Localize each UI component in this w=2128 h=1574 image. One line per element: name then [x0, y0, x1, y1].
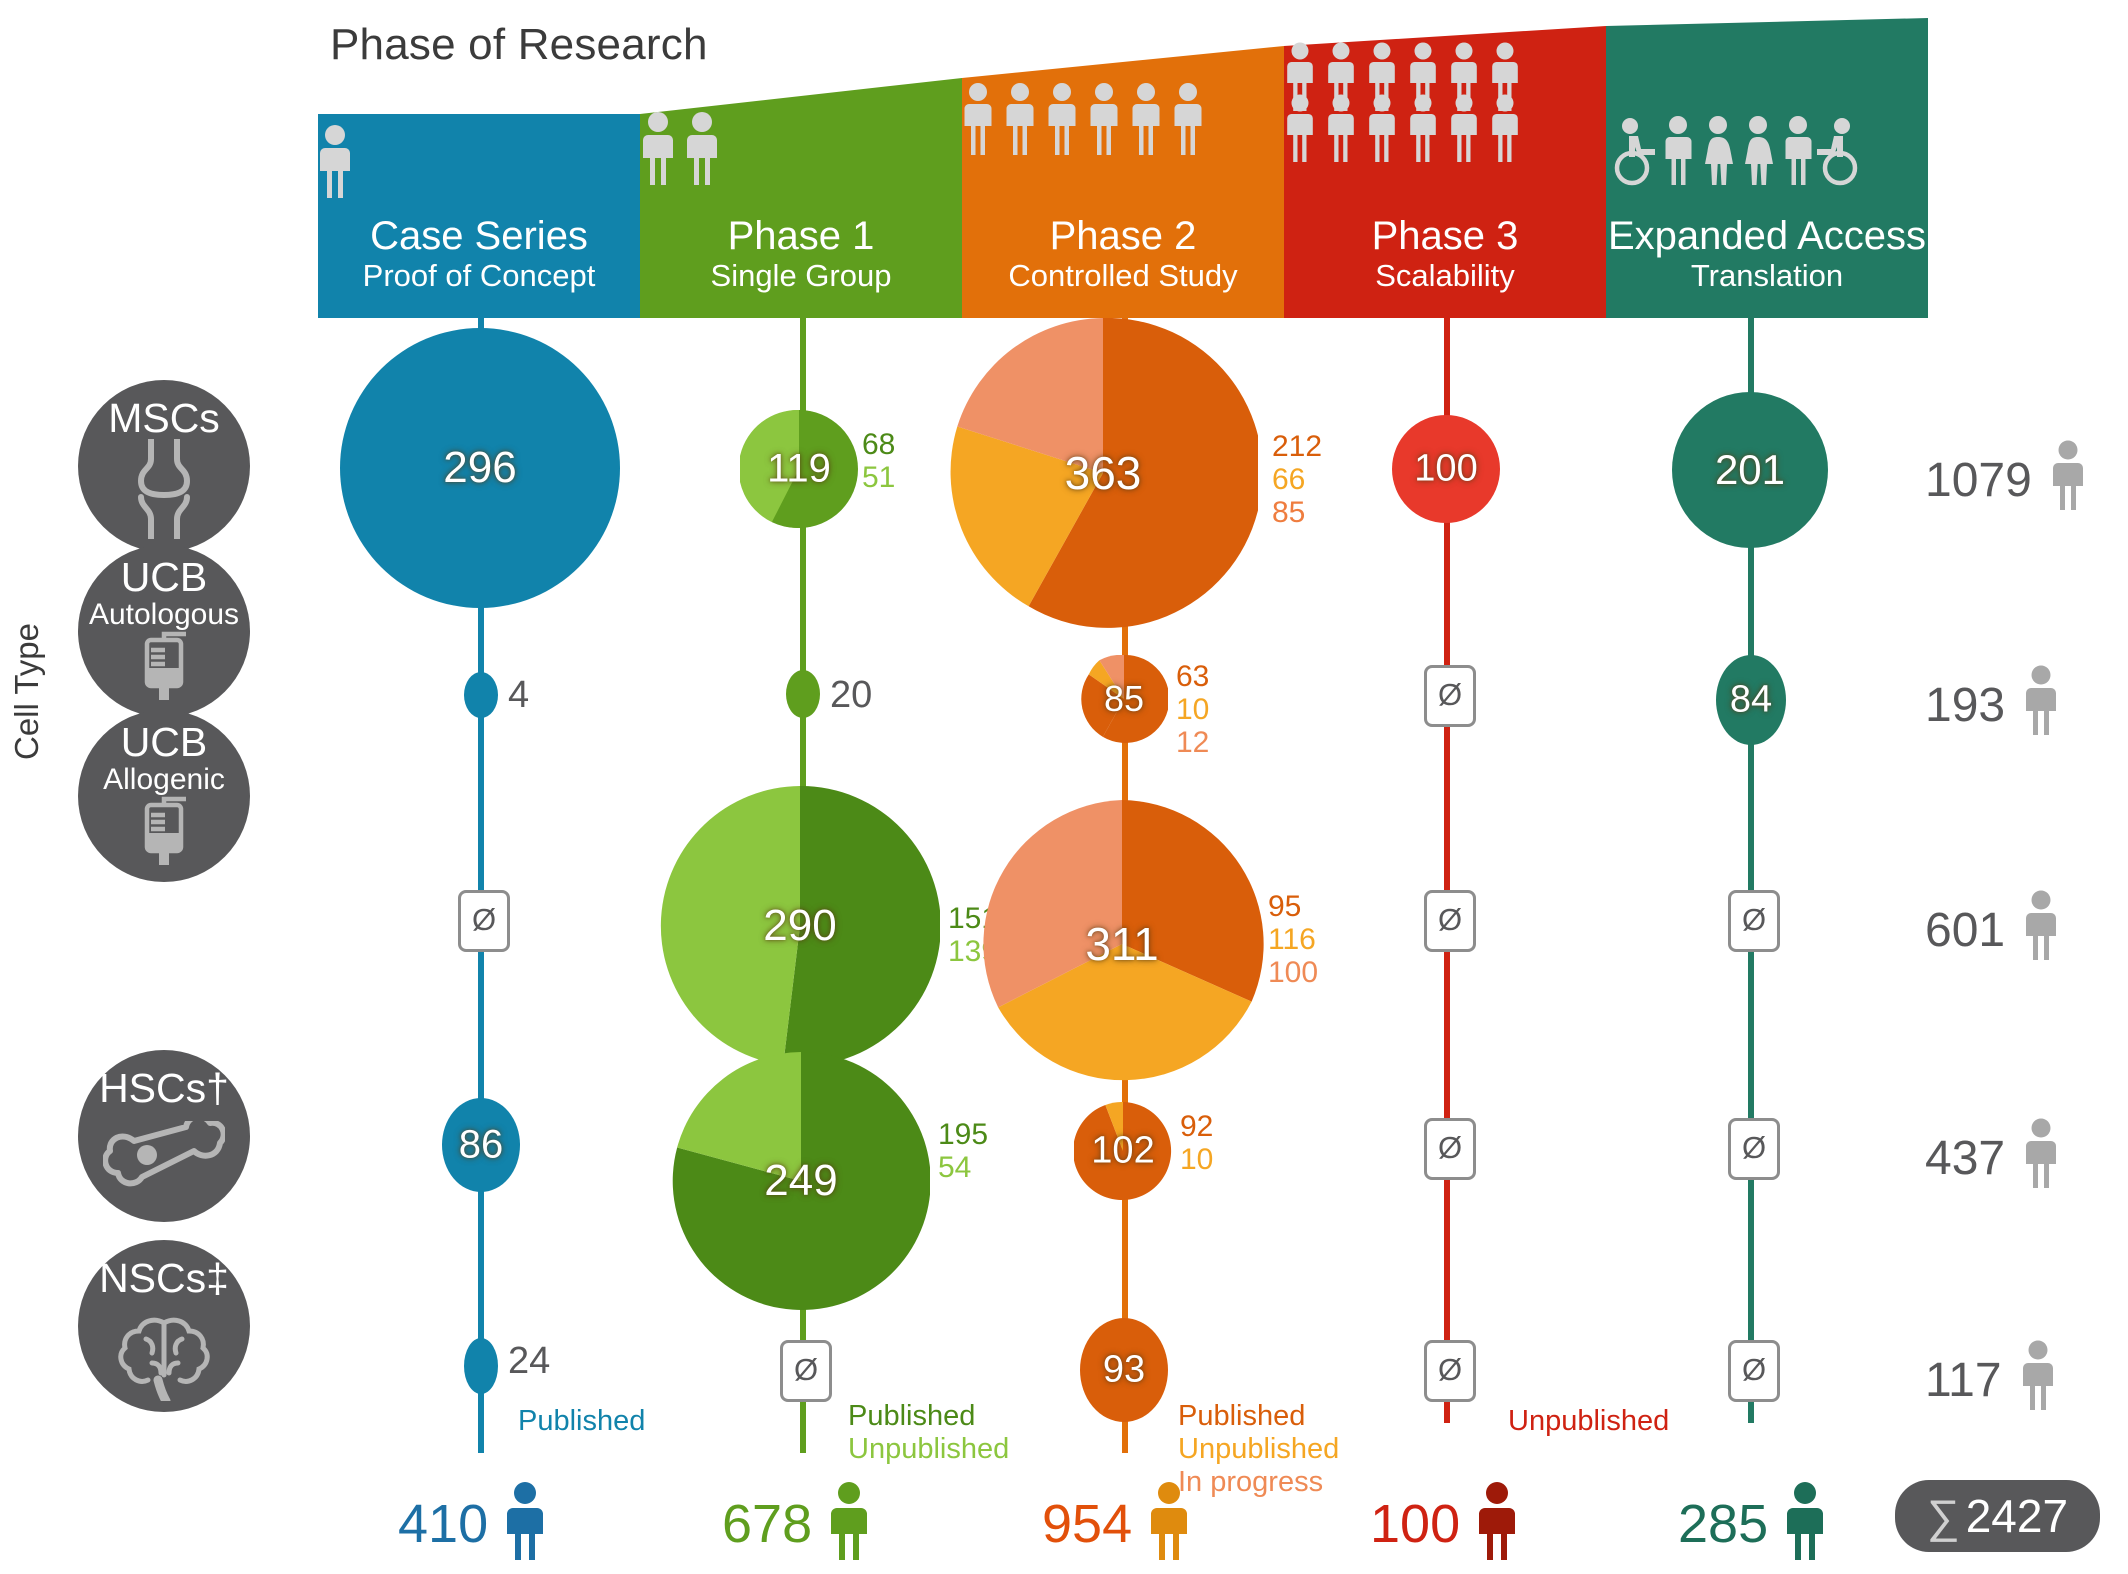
phase-title: Phase 1 — [640, 214, 962, 258]
breakdown-published: 68 — [862, 428, 895, 461]
person-icon — [2024, 665, 2058, 747]
column-total-phase-1: 678 — [722, 1482, 869, 1573]
people-icons-phase-2 — [962, 80, 1284, 160]
node-value: 85 — [1080, 678, 1168, 720]
column-total-value: 100 — [1370, 1494, 1460, 1554]
legend-item-unpublished: Unpublished — [848, 1433, 1009, 1466]
legend-item-published: Published — [518, 1405, 645, 1438]
node-value: 100 — [1392, 448, 1500, 491]
phase-subtitle: Controlled Study — [962, 258, 1284, 294]
node-nscs-phase-2[interactable]: 93 — [1080, 1318, 1168, 1422]
column-total-expanded-access: 285 — [1678, 1482, 1825, 1573]
breakdown-ucb-autologous-phase-2: 63 10 12 — [1176, 660, 1209, 759]
breakdown-mscs-phase-1: 68 51 — [862, 428, 895, 494]
cell-type-label: UCB — [78, 555, 250, 599]
node-value: 311 — [978, 917, 1266, 971]
axis-label-cell-type: Cell Type — [8, 623, 46, 760]
row-total-value: 1079 — [1925, 454, 2032, 507]
breakdown-published: 92 — [1180, 1110, 1213, 1143]
breakdown-ucb-allogenic-phase-2: 95 116 100 — [1268, 890, 1318, 989]
phase-subtitle: Translation — [1606, 258, 1928, 294]
person-icon — [1149, 1482, 1189, 1573]
wheelchair-icon-right — [1817, 118, 1855, 183]
brain-icon — [78, 1315, 250, 1406]
node-value-ucb-autologous-phase-1: 20 — [830, 674, 872, 717]
null-node-nscs-phase-3: Ø — [1424, 1340, 1476, 1402]
node-ucb-autologous-phase-2[interactable]: 85 — [1080, 655, 1168, 743]
breakdown-unpublished: 54 — [938, 1151, 988, 1184]
people-icons-phase-3 — [1284, 40, 1606, 162]
iv-bag-icon — [78, 628, 250, 709]
legend-case-series: Published — [518, 1405, 645, 1438]
breakdown-published: 63 — [1176, 660, 1209, 693]
row-total-ucb-allogenic: 601 — [1925, 890, 2058, 972]
row-total-value: 117 — [1925, 1354, 2002, 1407]
breakdown-hscs-phase-1: 195 54 — [938, 1118, 988, 1184]
breakdown-unpublished: 116 — [1268, 923, 1318, 956]
node-value: 119 — [740, 447, 858, 492]
node-mscs-case-series[interactable]: 296 — [340, 328, 620, 608]
row-total-nscs: 117 — [1925, 1340, 2055, 1422]
node-value: 102 — [1074, 1130, 1172, 1173]
legend-phase-1: Published Unpublished — [848, 1400, 1009, 1466]
legend-item-in-progress: In progress — [1178, 1466, 1339, 1499]
legend-item-unpublished: Unpublished — [1178, 1433, 1339, 1466]
null-node-nscs-phase-1: Ø — [780, 1340, 832, 1402]
phase-header-case-series[interactable]: Case Series Proof of Concept — [318, 214, 640, 294]
bone-icon — [78, 1121, 250, 1204]
phase-header-banner: Case Series Proof of Concept Phase 1 Sin… — [318, 18, 1928, 308]
cell-type-label: NSCs‡ — [78, 1256, 250, 1300]
node-value: 290 — [660, 901, 940, 951]
node-ucb-allogenic-phase-1[interactable]: 290 — [660, 786, 940, 1066]
cell-type-label: HSCs† — [78, 1066, 250, 1110]
row-total-hscs: 437 — [1925, 1118, 2058, 1200]
iv-bag-icon — [78, 793, 250, 874]
node-value-nscs-case-series: 24 — [508, 1340, 550, 1383]
phase-subtitle: Single Group — [640, 258, 962, 294]
cell-type-chip-mscs[interactable]: MSCs — [78, 380, 250, 552]
breakdown-unpublished: 66 — [1272, 463, 1322, 496]
people-icons-case-series — [318, 124, 640, 198]
node-value: 296 — [340, 443, 620, 493]
column-total-case-series: 410 — [398, 1482, 545, 1573]
phase-header-phase-3[interactable]: Phase 3 Scalability — [1284, 214, 1606, 294]
breakdown-unpublished: 10 — [1180, 1143, 1213, 1176]
node-hscs-case-series[interactable]: 86 — [442, 1098, 520, 1192]
phase-subtitle: Scalability — [1284, 258, 1606, 294]
column-total-value: 410 — [398, 1494, 488, 1554]
legend-item-unpublished: Unpublished — [1508, 1405, 1669, 1438]
legend-phase-3: Unpublished — [1508, 1405, 1669, 1438]
node-value: 363 — [948, 446, 1258, 500]
breakdown-hscs-phase-2: 92 10 — [1180, 1110, 1213, 1176]
null-node-hscs-phase-3: Ø — [1424, 1118, 1476, 1180]
grand-total-value: 2427 — [1966, 1490, 2068, 1542]
person-icon — [2051, 440, 2085, 522]
phase-header-phase-2[interactable]: Phase 2 Controlled Study — [962, 214, 1284, 294]
column-total-phase-2: 954 — [1042, 1482, 1189, 1573]
null-node-nscs-expanded-access: Ø — [1728, 1340, 1780, 1402]
node-hscs-phase-1[interactable]: 249 — [672, 1052, 930, 1310]
breakdown-published: 212 — [1272, 430, 1322, 463]
node-value-ucb-autologous-case-series: 4 — [508, 674, 529, 717]
null-node-ucb-allogenic-phase-3: Ø — [1424, 890, 1476, 952]
knee-joint-icon — [78, 439, 250, 544]
phase-header-phase-1[interactable]: Phase 1 Single Group — [640, 214, 962, 294]
breakdown-mscs-phase-2: 212 66 85 — [1272, 430, 1322, 529]
node-ucb-allogenic-phase-2[interactable]: 311 — [978, 800, 1266, 1088]
phase-title: Case Series — [318, 214, 640, 258]
people-icons-phase-1 — [640, 110, 962, 190]
node-mscs-phase-2[interactable]: 363 — [948, 318, 1258, 628]
breakdown-unpublished: 10 — [1176, 693, 1209, 726]
person-icon — [829, 1482, 869, 1573]
null-node-ucb-autologous-phase-3: Ø — [1424, 665, 1476, 727]
null-node-ucb-allogenic-expanded-access: Ø — [1728, 890, 1780, 952]
node-ucb-autologous-case-series[interactable] — [464, 672, 498, 718]
node-mscs-phase-1[interactable]: 119 — [740, 410, 858, 528]
breakdown-in-progress: 85 — [1272, 496, 1322, 529]
node-mscs-phase-3[interactable]: 100 — [1392, 415, 1500, 523]
breakdown-published: 195 — [938, 1118, 988, 1151]
row-total-value: 193 — [1925, 679, 2005, 732]
grand-total-badge: ∑2427 — [1895, 1480, 2100, 1552]
node-value: 93 — [1080, 1349, 1168, 1392]
column-total-value: 678 — [722, 1494, 812, 1554]
legend-item-published: Published — [848, 1400, 1009, 1433]
node-nscs-case-series[interactable] — [464, 1338, 498, 1394]
node-value: 201 — [1672, 446, 1828, 494]
cell-type-chip-ucb-allogenic[interactable]: UCB Allogenic — [78, 710, 250, 882]
phase-title: Phase 3 — [1284, 214, 1606, 258]
wheelchair-icon — [1617, 118, 1655, 183]
cell-type-sublabel: Allogenic — [78, 764, 250, 795]
node-value: 84 — [1716, 679, 1786, 722]
node-value: 249 — [672, 1156, 930, 1206]
null-node-ucb-allogenic-case-series: Ø — [458, 890, 510, 952]
person-icon — [1785, 1482, 1825, 1573]
row-total-value: 437 — [1925, 1132, 2005, 1185]
person-icon — [2021, 1340, 2055, 1422]
row-total-value: 601 — [1925, 904, 2005, 957]
null-node-hscs-expanded-access: Ø — [1728, 1118, 1780, 1180]
breakdown-in-progress: 100 — [1268, 956, 1318, 989]
node-mscs-expanded-access[interactable]: 201 — [1672, 392, 1828, 548]
cell-type-chip-hscs[interactable]: HSCs† — [78, 1050, 250, 1222]
column-total-value: 954 — [1042, 1494, 1132, 1554]
legend-item-published: Published — [1178, 1400, 1339, 1433]
breakdown-published: 95 — [1268, 890, 1318, 923]
cell-type-chip-nscs[interactable]: NSCs‡ — [78, 1240, 250, 1412]
person-icon — [2024, 1118, 2058, 1200]
breakdown-unpublished: 51 — [862, 461, 895, 494]
phase-title: Phase 2 — [962, 214, 1284, 258]
column-total-value: 285 — [1678, 1494, 1768, 1554]
node-hscs-phase-2[interactable]: 102 — [1074, 1102, 1172, 1200]
node-ucb-autologous-phase-1[interactable] — [786, 670, 820, 718]
node-ucb-autologous-expanded-access[interactable]: 84 — [1716, 655, 1786, 745]
person-icon — [2024, 890, 2058, 972]
person-icon — [1477, 1482, 1517, 1573]
cell-type-chip-ucb-autologous[interactable]: UCB Autologous — [78, 545, 250, 717]
sigma-icon: ∑ — [1927, 1490, 1966, 1542]
breakdown-in-progress: 12 — [1176, 726, 1209, 759]
people-icons-expanded-access — [1606, 114, 1928, 186]
phase-subtitle: Proof of Concept — [318, 258, 640, 294]
row-total-ucb-autologous: 193 — [1925, 665, 2058, 747]
phase-header-expanded-access[interactable]: Expanded Access Translation — [1606, 214, 1928, 294]
cell-type-sublabel: Autologous — [78, 599, 250, 630]
legend-phase-2: Published Unpublished In progress — [1178, 1400, 1339, 1499]
phase-title: Expanded Access — [1606, 214, 1928, 258]
person-icon — [505, 1482, 545, 1573]
column-total-phase-3: 100 — [1370, 1482, 1517, 1573]
cell-type-label: MSCs — [78, 396, 250, 440]
node-value: 86 — [442, 1123, 520, 1168]
row-total-mscs: 1079 — [1925, 440, 2085, 522]
cell-type-label: UCB — [78, 720, 250, 764]
